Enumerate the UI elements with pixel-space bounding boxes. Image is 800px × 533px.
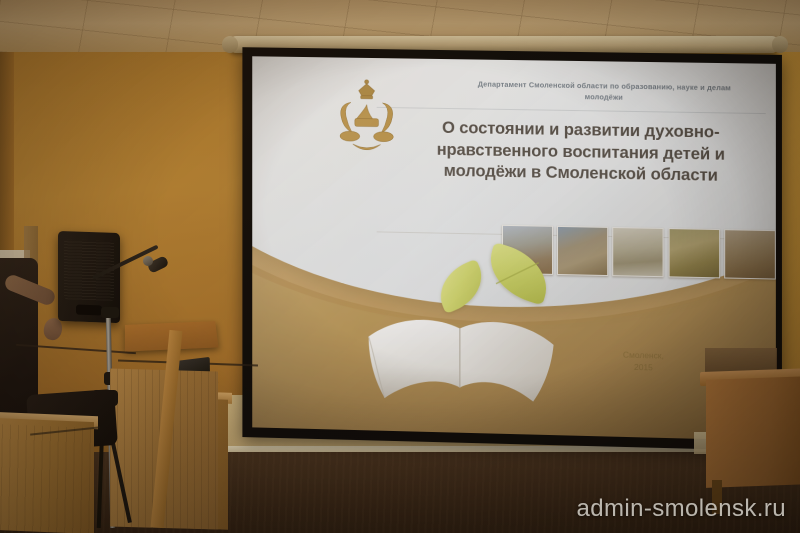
smolensk-oblast-coat-of-arms-icon	[326, 77, 409, 168]
projection-screen-surface: Департамент Смоленской области по образо…	[252, 56, 776, 441]
conference-room-photo: Департамент Смоленской области по образо…	[0, 0, 800, 533]
photo-thumbnail	[724, 230, 776, 280]
roller-cap-right	[772, 36, 788, 53]
microphone-clamp	[101, 307, 119, 318]
projection-screen-frame: Департамент Смоленской области по образо…	[242, 47, 782, 451]
slide-title: О состоянии и развитии духовно-нравствен…	[397, 116, 765, 187]
presentation-slide: Департамент Смоленской области по образо…	[252, 56, 776, 441]
speaker-port	[76, 305, 102, 316]
site-watermark: admin-smolensk.ru	[576, 495, 786, 523]
photo-thumbnail	[557, 226, 608, 276]
city-year-caption: Смоленск, 2015	[575, 348, 712, 376]
photo-thumbnail	[612, 227, 663, 277]
photo-thumbnail	[668, 228, 720, 278]
department-name: Департамент Смоленской области по образо…	[460, 78, 750, 105]
right-table	[706, 376, 800, 488]
open-book-graphic	[314, 295, 606, 414]
roller-cap-left	[222, 36, 238, 53]
left-table-grain	[0, 424, 94, 533]
microphone-windscreen	[143, 256, 153, 266]
